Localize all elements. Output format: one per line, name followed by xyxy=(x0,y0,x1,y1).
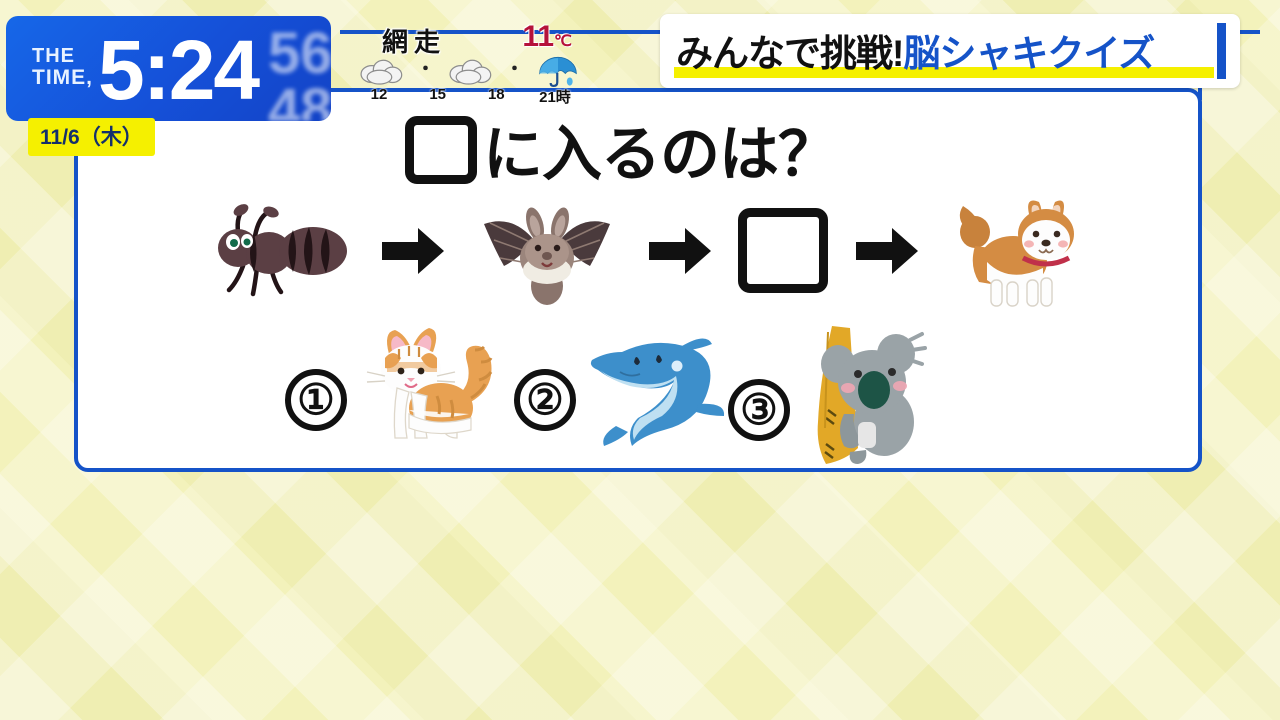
options-row: ① xyxy=(285,318,965,453)
arrow-right-icon xyxy=(854,223,920,279)
option-number: ② xyxy=(514,369,576,431)
cat-icon xyxy=(349,318,514,453)
option-1[interactable]: ① xyxy=(285,318,514,453)
program-logo-line2: TIME, xyxy=(32,67,93,88)
weather-separator: ・ xyxy=(506,55,524,81)
quiz-title-part2: 脳シャキクイズ xyxy=(903,33,1154,74)
sequence-item-dog xyxy=(945,188,1075,313)
dolphin-icon xyxy=(578,318,728,453)
koala-icon xyxy=(792,318,932,473)
question-blank-box xyxy=(405,116,477,184)
title-accent-bar xyxy=(1217,23,1226,79)
program-logo: THE TIME, xyxy=(32,46,93,88)
weather-separator: ・ xyxy=(417,55,435,81)
question-text: に入るのは？ xyxy=(483,106,837,193)
option-number: ③ xyxy=(728,379,790,441)
arrow-right-icon xyxy=(647,223,713,279)
bat-icon xyxy=(472,196,622,306)
weather-hour-label: 12 xyxy=(352,86,406,107)
sequence-item-ant xyxy=(195,196,355,306)
clock-card: THE TIME, 5:24 56 48 xyxy=(6,16,331,121)
sequence-row xyxy=(195,188,1075,313)
option-number: ① xyxy=(285,369,347,431)
clock-seconds-bottom: 48 xyxy=(268,82,331,121)
cloud-icon xyxy=(358,54,404,88)
weather-hour-label: 18 xyxy=(469,86,523,107)
clock-seconds-top: 56 xyxy=(268,26,331,82)
arrow-right-icon xyxy=(380,223,446,279)
option-3[interactable]: ③ xyxy=(728,318,932,473)
cloud-icon xyxy=(447,54,493,88)
sequence-blank-box xyxy=(738,208,828,293)
weather-hour-label: 15 xyxy=(411,86,465,107)
question-row: に入るのは？ xyxy=(405,106,837,193)
umbrella-icon xyxy=(536,54,582,88)
weather-hour-label: 21時 xyxy=(528,86,582,107)
option-2[interactable]: ② xyxy=(514,318,728,453)
weather-temperature-value: 11 xyxy=(522,20,554,53)
weather-hour-labels: 12 15 18 21時 xyxy=(352,86,582,107)
clock-time: 5:24 xyxy=(98,20,258,120)
clock-seconds-ghost: 56 48 xyxy=(268,26,331,121)
ant-icon xyxy=(195,196,355,306)
quiz-title-part1: みんなで挑戦! xyxy=(676,33,903,74)
quiz-title: みんなで挑戦!脳シャキクイズ xyxy=(676,23,1154,77)
sequence-item-bat xyxy=(472,196,622,306)
date-badge: 11/6（木） xyxy=(28,118,155,156)
weather-widget: 網走 11℃ ・ xyxy=(352,16,582,106)
program-logo-line1: THE xyxy=(32,46,93,67)
shiba-dog-icon xyxy=(945,188,1075,313)
quiz-title-card: みんなで挑戦!脳シャキクイズ xyxy=(660,14,1240,88)
weather-icon-row: ・ ・ xyxy=(358,54,582,88)
weather-temperature: 11℃ xyxy=(522,20,572,54)
weather-temperature-unit: ℃ xyxy=(554,33,572,50)
